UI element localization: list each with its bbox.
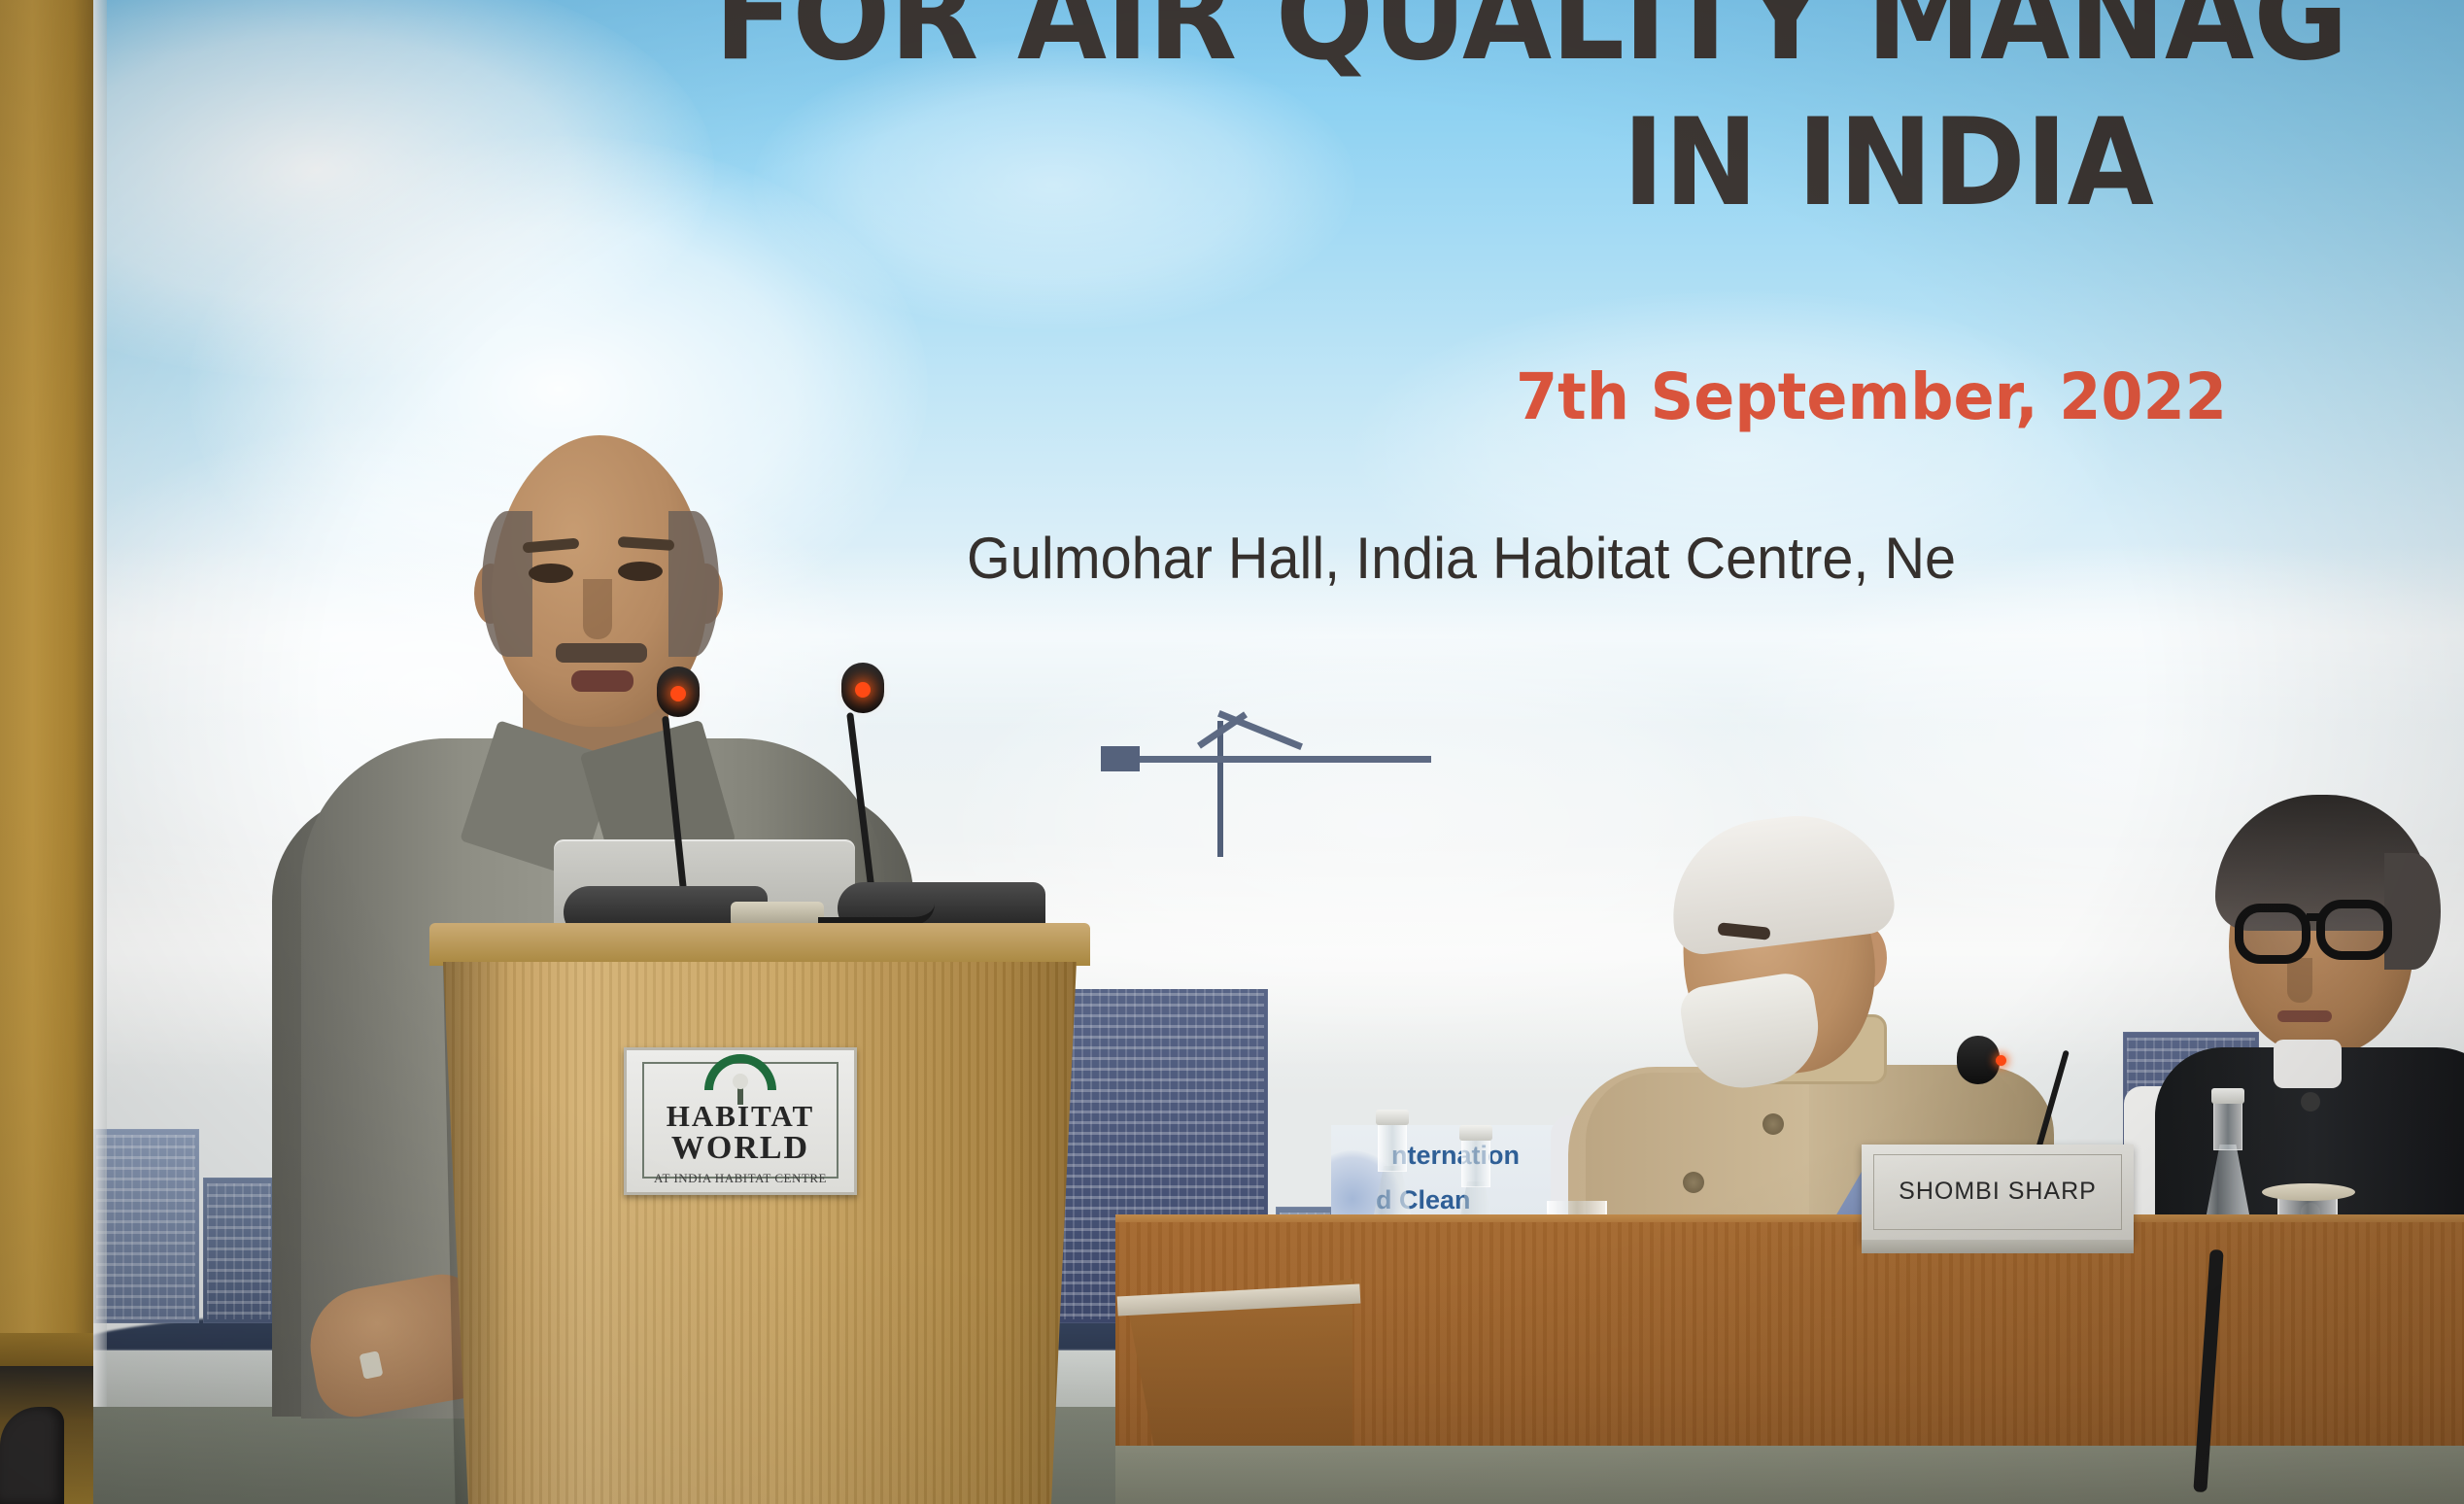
plaque-brand-line-1: HABITAT: [627, 1099, 854, 1134]
panelist-center-vest-button: [1683, 1172, 1704, 1193]
speaker-eye-right: [618, 562, 663, 581]
name-placard: SHOMBI SHARP: [1862, 1145, 2134, 1242]
speaker-podium: HABITAT WORLD AT INDIA HABITAT CENTRE: [429, 923, 1090, 1504]
podium-shadow: [443, 962, 511, 1504]
banner-title-line-2: IN INDIA: [1623, 93, 2154, 233]
speaker-mouth: [571, 670, 633, 692]
name-placard-text: SHOMBI SHARP: [1862, 1178, 2134, 1206]
left-wall-column: [0, 0, 93, 1504]
speaker-hair-left: [482, 511, 532, 657]
bottle-neck: [1461, 1135, 1490, 1187]
glass-coaster: [2262, 1183, 2355, 1201]
microphone-led-right: [855, 682, 871, 698]
cloud-shape: [73, 0, 714, 379]
conference-photo-scene: FOR AIR QUALITY MANAG IN INDIA 7th Septe…: [0, 0, 2464, 1504]
bottle-cap: [1459, 1125, 1492, 1141]
panelist-center-vest-button: [1762, 1113, 1784, 1135]
bottle-neck: [2213, 1098, 2242, 1150]
panel-microphone-head: [1957, 1036, 2000, 1084]
name-placard-stand: [1862, 1240, 2134, 1253]
speaker-nose: [583, 579, 612, 639]
panelist-right-vest-button: [2301, 1092, 2320, 1111]
head-table-skirt: [1115, 1446, 2464, 1504]
wall-trim: [0, 1333, 93, 1366]
podium-top-surface: [429, 923, 1090, 966]
bottle-cap: [2211, 1088, 2244, 1104]
eyeglasses-lens-left-icon: [2235, 904, 2310, 964]
speaker-eye-left: [529, 564, 573, 583]
eyeglasses-bridge-icon: [2307, 913, 2324, 921]
panelist-center-hair: [1662, 805, 1898, 958]
construction-crane-icon: [1111, 721, 1431, 857]
chair-edge: [0, 1407, 64, 1504]
banner-left-edge: [93, 0, 107, 1407]
banner-title-line-1: FOR AIR QUALITY MANAG: [714, 0, 2347, 88]
microphone-cable: [818, 904, 935, 925]
speaker-mustache: [556, 643, 647, 663]
podium-front-panel: [443, 962, 1077, 1504]
banner-venue: Gulmohar Hall, India Habitat Centre, Ne: [967, 525, 1956, 592]
panel-microphone-led: [1996, 1055, 2006, 1066]
habitat-world-plaque: HABITAT WORLD AT INDIA HABITAT CENTRE: [624, 1047, 857, 1195]
banner-event-date: 7th September, 2022: [1516, 359, 2227, 434]
panelist-right-hair-side: [2384, 853, 2441, 970]
plaque-brand-line-2: WORLD: [627, 1130, 854, 1167]
microphone-led-left: [670, 686, 686, 701]
panelist-right-nose: [2287, 958, 2312, 1003]
plaque-subtitle: AT INDIA HABITAT CENTRE: [627, 1171, 854, 1186]
eyeglasses-lens-right-icon: [2316, 900, 2392, 960]
panelist-right-collar: [2274, 1040, 2342, 1088]
bottle-cap: [1376, 1110, 1409, 1125]
speaker-hair-right: [668, 511, 719, 657]
panelist-right-mouth: [2277, 1010, 2332, 1022]
bottle-neck: [1378, 1119, 1407, 1172]
